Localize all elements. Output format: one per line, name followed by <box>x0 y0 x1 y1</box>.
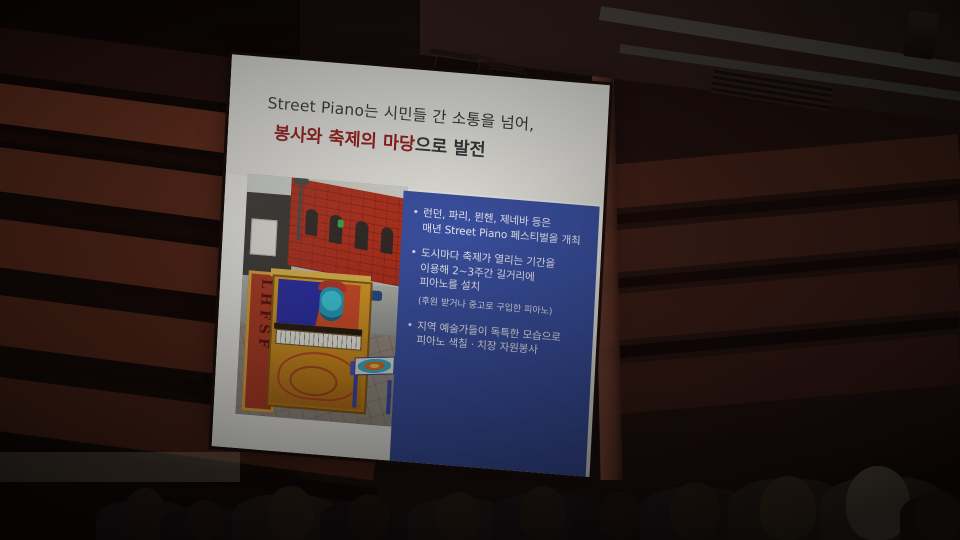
street-piano-photo: LHFSF <box>235 174 407 427</box>
seated-audience <box>0 430 960 540</box>
bullet-line: 피아노를 설치 <box>419 276 480 293</box>
projection-screen[interactable]: Street Piano는 시민들 간 소통을 넘어, 봉사와 축제의 마당으로… <box>212 54 610 477</box>
audience-head <box>670 482 720 540</box>
slide-title-highlight: 봉사와 축제의 마당 <box>274 124 416 156</box>
slide-surface: Street Piano는 시민들 간 소통을 넘어, 봉사와 축제의 마당으로… <box>212 54 610 477</box>
bullet-marker: • <box>411 205 419 235</box>
traffic-light-icon <box>337 219 343 227</box>
bullet-item-1: • 런던, 파리, 뮌헨, 제네바 등은 매년 Street Piano 페스티… <box>411 205 593 249</box>
bullet-marker: • <box>406 318 414 348</box>
audience-head <box>916 490 960 540</box>
slide-title-rest: 으로 발전 <box>415 135 487 161</box>
bullet-item-3: • 지역 예술가들이 독특한 모습으로 피아노 색칠 · 치장 자원봉사 <box>406 318 588 362</box>
bullet-item-2: • 도시마다 축제가 열리는 기간을 이용해 2~3주간 길거리에 피아노를 설… <box>409 245 591 303</box>
table <box>0 452 240 482</box>
audience-head <box>760 476 816 540</box>
bullet-text: 런던, 파리, 뮌헨, 제네바 등은 매년 Street Piano 페스티벌을… <box>422 206 582 248</box>
window <box>329 214 343 244</box>
audience-head <box>520 486 566 540</box>
bullet-list: • 런던, 파리, 뮌헨, 제네바 등은 매년 Street Piano 페스티… <box>405 205 593 372</box>
photo-scene: Street Piano는 시민들 간 소통을 넘어, 봉사와 축제의 마당으로… <box>0 0 960 540</box>
audience-head <box>186 500 224 540</box>
audience-head <box>268 486 314 540</box>
bullet-text: 도시마다 축제가 열리는 기간을 이용해 2~3주간 길거리에 피아노를 설치 <box>419 246 555 300</box>
bullet-text: 지역 예술가들이 독특한 모습으로 피아노 색칠 · 치장 자원봉사 <box>416 319 561 360</box>
window <box>305 208 318 236</box>
window <box>354 220 368 250</box>
white-door <box>250 218 278 256</box>
lamppost-head <box>294 178 309 185</box>
stool-top-design <box>354 356 395 375</box>
bullet-marker: • <box>409 245 418 289</box>
audience-head <box>348 494 390 540</box>
portrait-face <box>319 286 345 322</box>
window <box>380 226 393 254</box>
ceiling-light-fixture-icon <box>903 10 939 60</box>
audience-head <box>436 492 480 540</box>
audience-head <box>598 492 640 540</box>
